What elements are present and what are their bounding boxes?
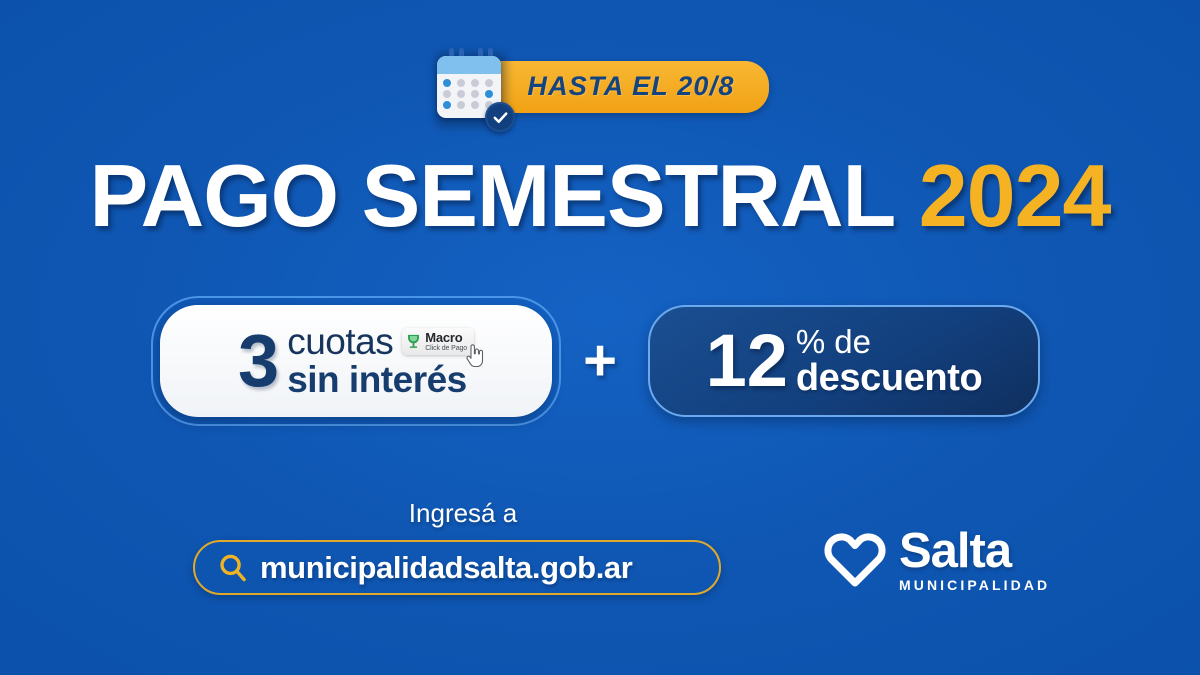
deadline-pill: HASTA EL 20/8: [471, 61, 768, 113]
url-bar[interactable]: municipalidadsalta.gob.ar: [193, 540, 721, 595]
macro-badge: Macro Click de Pago: [402, 328, 474, 355]
macro-cup-icon: [406, 333, 421, 350]
check-icon: [485, 102, 515, 132]
headline-main: PAGO SEMESTRAL: [90, 146, 896, 245]
offers-row: 3 cuotas Macro: [0, 296, 1200, 426]
calendar-icon: [431, 46, 509, 128]
percent-symbol: %: [796, 325, 825, 358]
hand-cursor-icon: [465, 344, 485, 368]
heart-icon: [822, 530, 888, 590]
installments-label: cuotas: [287, 323, 393, 360]
url-text: municipalidadsalta.gob.ar: [260, 550, 632, 586]
discount-number: 12: [706, 330, 788, 392]
de-word: de: [834, 325, 871, 358]
installments-card: 3 cuotas Macro: [151, 296, 561, 426]
no-interest-label: sin interés: [287, 361, 474, 399]
plus-separator: +: [583, 332, 617, 390]
discount-card: 12 % de descuento: [639, 296, 1049, 426]
salta-logo: Salta MUNICIPALIDAD: [822, 528, 1050, 593]
installments-number: 3: [238, 330, 279, 392]
salta-subtitle: MUNICIPALIDAD: [899, 577, 1050, 593]
calendar-header: [437, 56, 501, 74]
search-icon: [217, 552, 248, 583]
page-title: PAGO SEMESTRAL 2024: [0, 152, 1200, 240]
deadline-text: HASTA EL 20/8: [527, 71, 734, 102]
deadline-badge: HASTA EL 20/8: [0, 46, 1200, 128]
headline-year: 2024: [919, 146, 1111, 245]
macro-tagline: Click de Pago: [425, 345, 467, 352]
discount-label: descuento: [796, 359, 982, 398]
macro-name: Macro: [425, 331, 467, 344]
cta-prompt: Ingresá a: [193, 498, 733, 529]
salta-name: Salta: [899, 528, 1050, 575]
